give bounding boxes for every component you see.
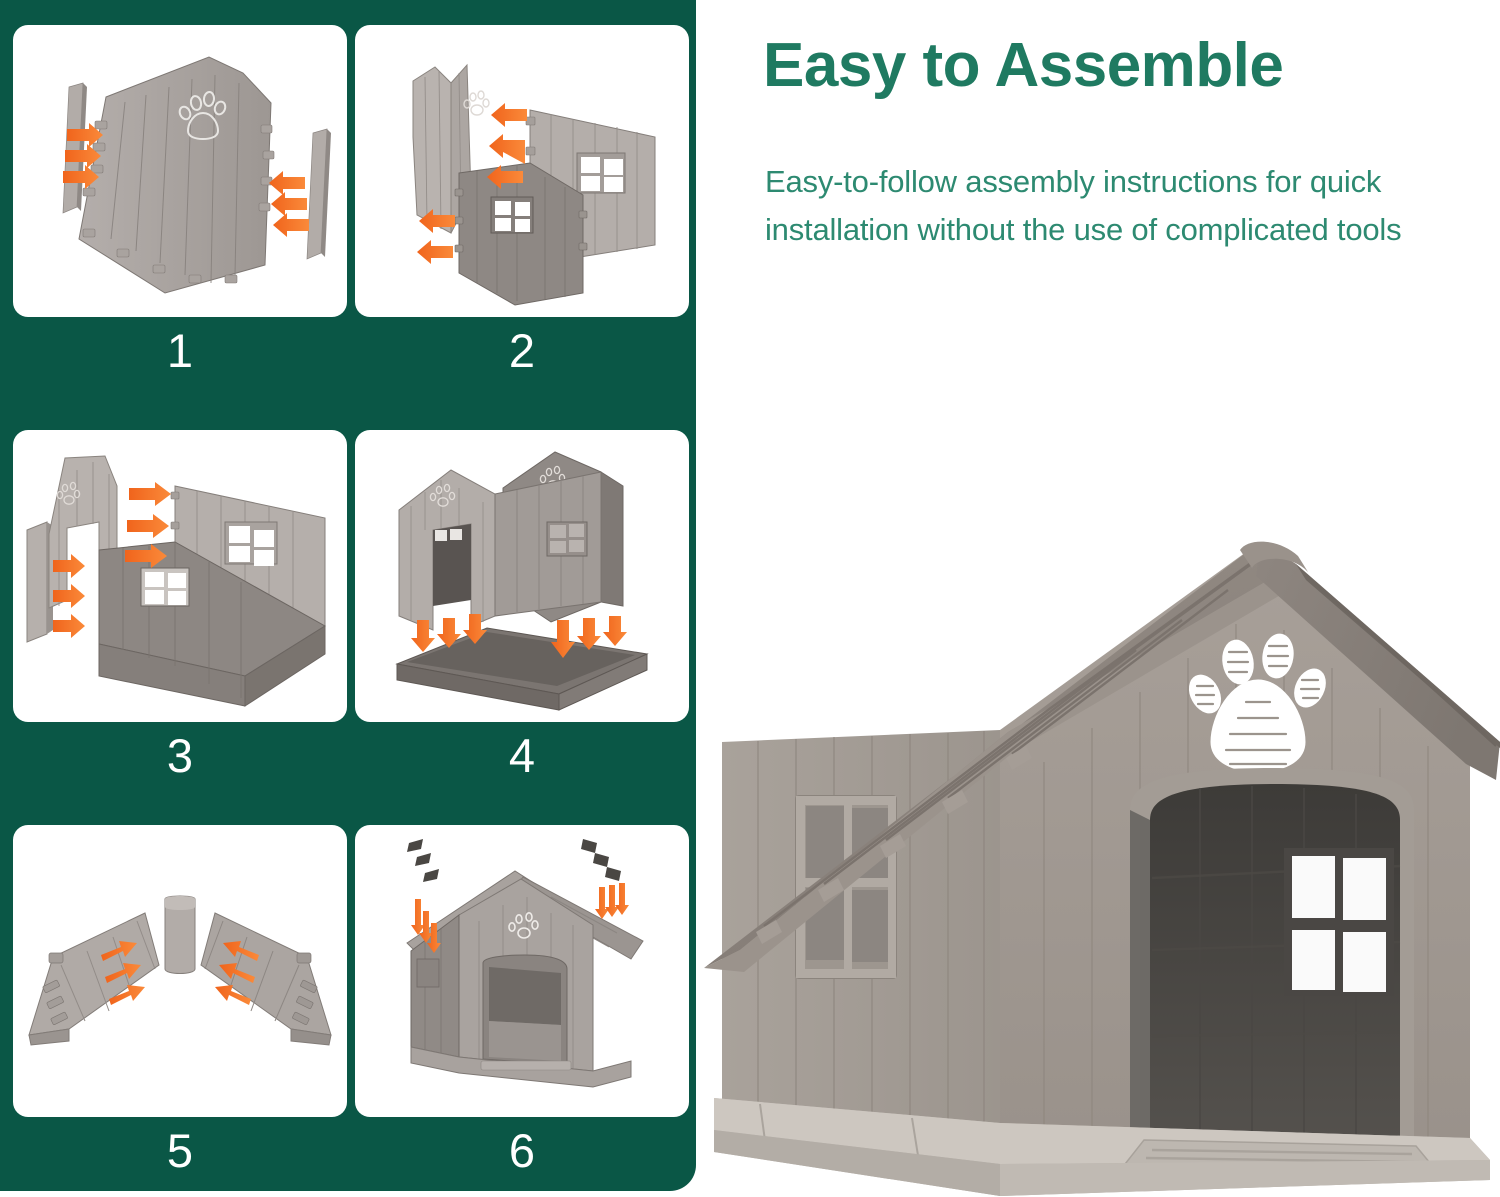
roof-half-right [201,913,331,1045]
step-number-5: 5 [13,1127,347,1174]
step-tile-5 [13,825,347,1117]
step-tile-2 [355,25,689,317]
roof-panel [79,57,274,293]
assembled-walls [399,452,623,630]
front-gable-wall [1000,542,1470,1140]
roof-half-left [29,913,159,1045]
step-tile-6 [355,825,689,1117]
assembly-arrow [125,482,171,568]
interior-window [1284,848,1394,996]
floor-base [397,628,647,710]
assembly-steps-panel: 1 [0,0,696,1191]
assembly-arrow [53,554,85,638]
step-4-illustration [355,430,689,722]
step-3-illustration [13,430,347,722]
step-tile-4 [355,430,689,722]
step-tile-1 [13,25,347,317]
step-2-illustration [355,25,689,317]
front-doorway [1130,768,1414,1140]
completed-dog-house [407,871,643,1087]
product-hero-image [700,480,1500,1197]
step-1-illustration [13,25,347,317]
page-title: Easy to Assemble [763,33,1463,98]
step-number-1: 1 [13,327,347,374]
step-5-illustration [13,825,347,1117]
step-6-illustration [355,825,689,1117]
step-number-3: 3 [13,732,347,779]
page-subtitle: Easy-to-follow assembly instructions for… [765,158,1465,254]
step-tile-3 [13,430,347,722]
dog-house-illustration [700,480,1500,1197]
step-number-2: 2 [355,327,689,374]
assembly-arrow [269,171,309,237]
ridge-cap [165,896,195,974]
step-number-6: 6 [355,1127,689,1174]
side-rail-right [307,129,331,259]
step-number-4: 4 [355,732,689,779]
